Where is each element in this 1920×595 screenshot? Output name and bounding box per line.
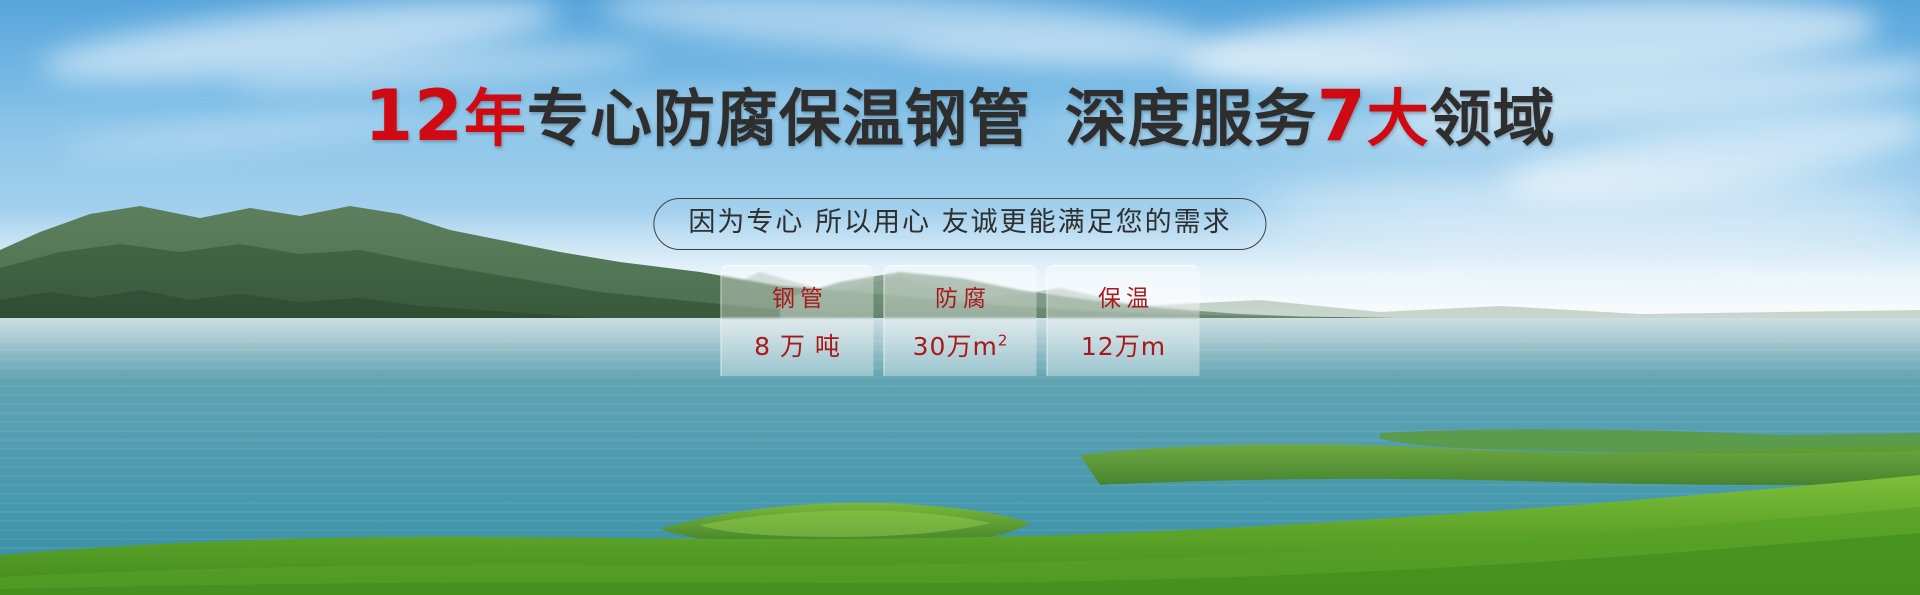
headline-fields-number: 7 — [1317, 75, 1367, 157]
hero-banner: 12年专心防腐保温钢管深度服务7大领域 因为专心 所以用心 友诚更能满足您的需求… — [0, 0, 1920, 595]
banner-content: 12年专心防腐保温钢管深度服务7大领域 因为专心 所以用心 友诚更能满足您的需求… — [0, 0, 1920, 595]
headline-main-text: 专心防腐保温钢管 — [527, 82, 1031, 155]
stat-value: 12万m — [1081, 327, 1166, 363]
headline-fields-text: 领域 — [1430, 82, 1556, 155]
stat-value: 8 万 吨 — [754, 327, 841, 363]
headline: 12年专心防腐保温钢管深度服务7大领域 — [0, 83, 1920, 152]
stat-value-superscript: 2 — [998, 332, 1009, 350]
stat-card-insulation[interactable]: 保温 12万m — [1047, 265, 1200, 376]
headline-years-unit: 年 — [464, 82, 527, 155]
stat-value-text: 12万m — [1081, 332, 1166, 361]
stat-card-anticorrosion[interactable]: 防腐 30万m2 — [884, 265, 1037, 376]
headline-service-text: 深度服务 — [1065, 82, 1317, 155]
stat-card-steel-pipe[interactable]: 钢管 8 万 吨 — [721, 265, 874, 376]
headline-years-number: 12 — [364, 75, 463, 157]
stat-label: 防腐 — [930, 279, 991, 313]
stat-card-group: 钢管 8 万 吨 防腐 30万m2 保温 12万m — [721, 265, 1200, 376]
subtitle-pill: 因为专心 所以用心 友诚更能满足您的需求 — [653, 198, 1266, 250]
stat-label: 钢管 — [767, 279, 828, 313]
stat-value: 30万m2 — [913, 327, 1009, 363]
stat-value-text: 30万m — [913, 332, 998, 361]
stat-value-text: 8 万 吨 — [754, 332, 841, 361]
stat-label: 保温 — [1093, 279, 1154, 313]
headline-fields-unit: 大 — [1367, 82, 1430, 155]
